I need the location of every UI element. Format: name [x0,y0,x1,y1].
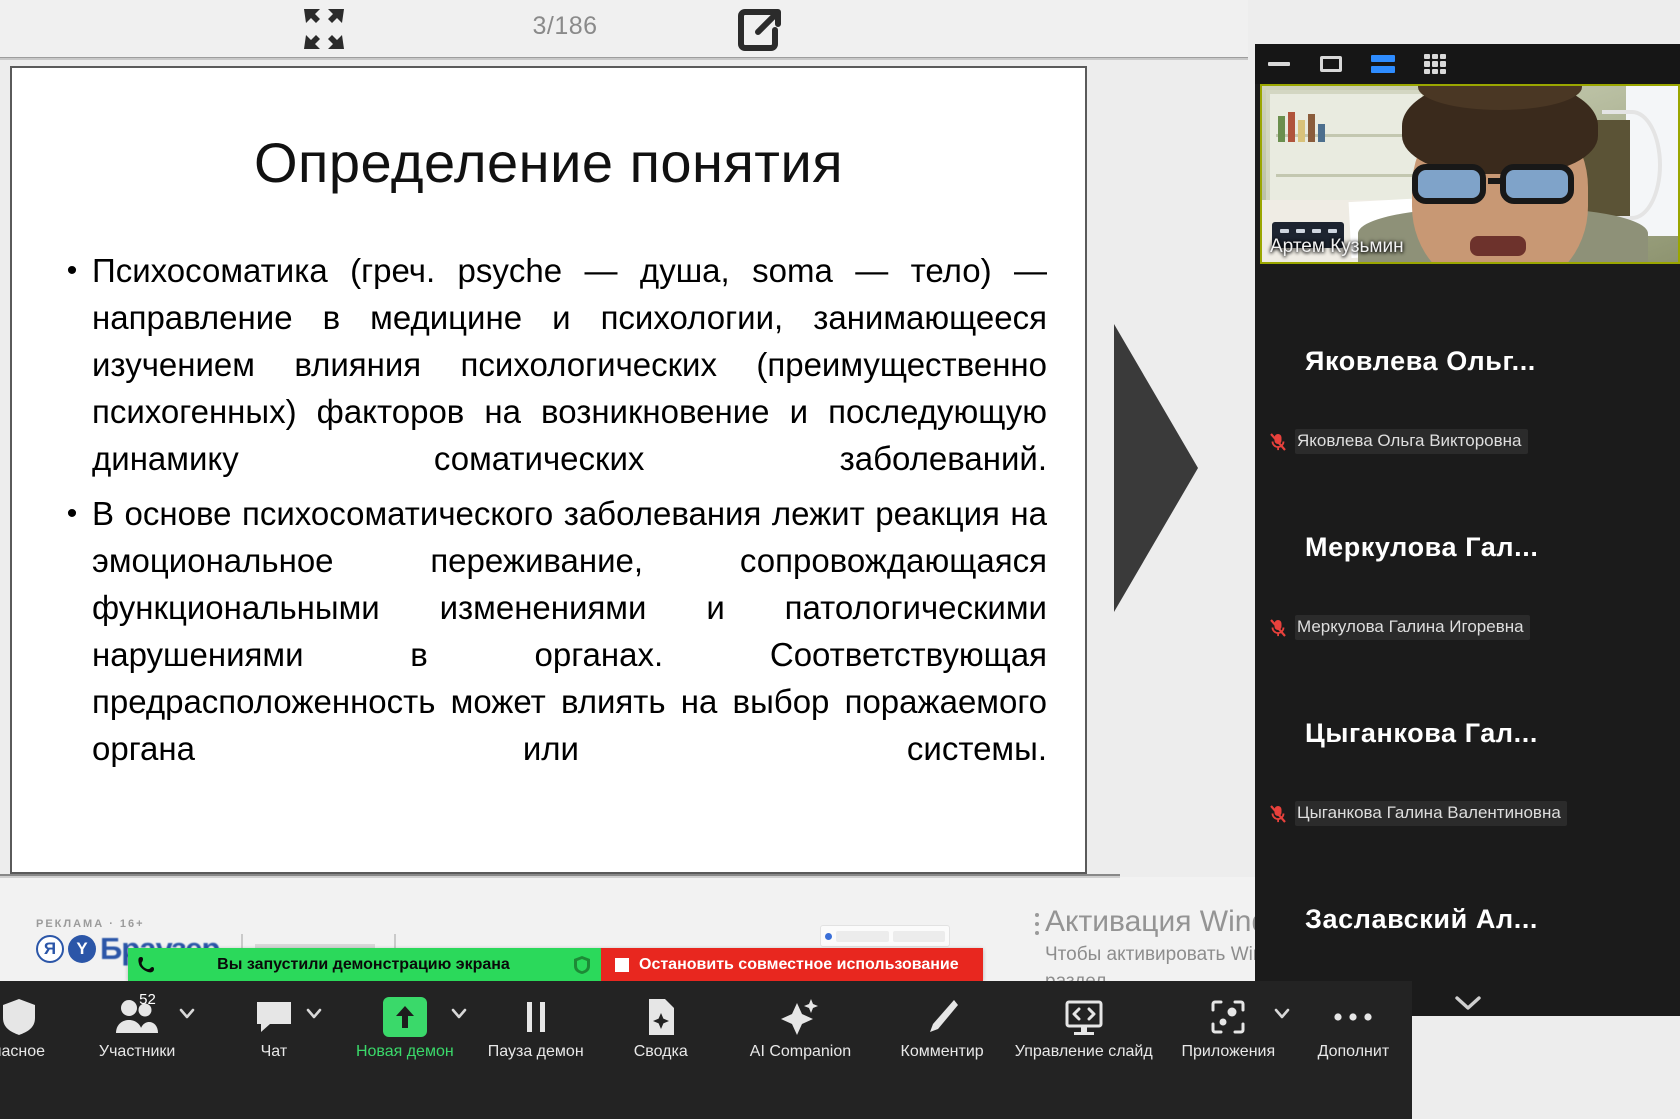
chevron-down-icon [1453,994,1483,1012]
apps-icon [1209,993,1247,1041]
list-item[interactable]: Цыганкова Гал... Цыганкова Галина Валент… [1255,640,1680,826]
participant-display-name: Цыганкова Гал... [1255,718,1680,749]
slide-canvas: Определение понятия • Психосоматика (гре… [10,66,1087,874]
summary-doc-icon [644,993,678,1041]
slide-title: Определение понятия [12,130,1085,195]
toolbar-item-apps[interactable]: Приложения [1162,993,1295,1061]
toolbar-label: Сводка [634,1043,688,1061]
stop-sharing-button[interactable]: Остановить совместное использование [601,948,983,981]
browser-tab[interactable] [836,931,889,942]
toolbar-item-new-share[interactable]: Новая демон [337,993,472,1061]
participant-name-strip: Меркулова Галина Игоревна [1255,615,1680,640]
bullet-text: Психосоматика (греч. psyche — душа, soma… [92,247,1047,482]
share-export-icon [736,6,782,52]
mini-browser-window[interactable] [820,925,950,947]
share-button[interactable] [730,2,788,56]
pencil-annotate-icon [924,993,960,1041]
participants-caret-button[interactable] [178,1007,194,1023]
slide-body: • Психосоматика (греч. psyche — душа, so… [52,247,1047,772]
page-indicator: 3/186 [500,12,630,41]
ad-label: РЕКЛАМА · 16+ [36,918,396,930]
restore-window-button[interactable] [1317,51,1345,77]
shield-security-icon [573,955,591,975]
chat-bubble-icon [254,993,294,1041]
chevron-down-icon [178,1007,196,1021]
chat-caret-button[interactable] [305,1007,321,1023]
toolbar-label: Комментир [901,1043,984,1061]
phone-icon [138,956,154,974]
slide-bullet: • В основе психосоматического заболевани… [52,490,1047,772]
toolbar-item-participants[interactable]: 52 Участники [64,993,211,1061]
bullet-text: В основе психосоматического заболевания … [92,490,1047,772]
minimize-button[interactable] [1265,51,1293,77]
slide-control-icon [1064,993,1104,1041]
share-screen-icon [383,993,427,1041]
chevron-down-icon [305,1007,323,1021]
screen-share-banner: Вы запустили демонстрацию экрана Останов… [128,948,983,981]
yandex-ya-icon: Я [36,935,64,963]
participant-count-badge: 52 [139,991,156,1008]
background-divider [0,874,1120,878]
zoom-participants-window: Артем Кузьмин Яковлева Ольг... Яковлева [1255,44,1680,1016]
toolbar-item-summary[interactable]: Сводка [599,993,722,1061]
toolbar-label: Приложения [1182,1043,1276,1061]
chevron-down-icon [450,1007,468,1021]
toolbar-item-pause-share[interactable]: Пауза демон [472,993,599,1061]
fullscreen-expand-icon [301,6,347,52]
toolbar-label: Новая демон [356,1043,454,1061]
participant-display-name: Заславский Ал... [1255,904,1680,935]
share-status-text: Вы запустили демонстрацию экрана [164,956,563,974]
toolbar-label: Чат [261,1043,288,1061]
bullet-marker: • [52,490,92,537]
shield-icon [0,993,38,1041]
participant-full-name: Цыганкова Галина Валентиновна [1295,801,1567,826]
list-item[interactable]: Яковлева Ольг... Яковлева Ольга Викторов… [1255,270,1680,454]
split-view-icon [1371,55,1395,73]
split-view-button[interactable] [1369,51,1397,77]
stop-sharing-label: Остановить совместное использование [639,956,959,974]
participant-full-name: Меркулова Галина Игоревна [1295,615,1530,640]
pause-icon [521,993,551,1041]
browser-tab[interactable] [893,931,946,942]
apps-caret-button[interactable] [1273,1007,1289,1023]
list-item[interactable]: Заславский Ал... [1255,826,1680,935]
grid-view-icon [1424,54,1446,74]
microphone-muted-icon [1269,618,1287,638]
participant-display-name: Меркулова Гал... [1255,532,1680,563]
fullscreen-button[interactable] [296,2,352,56]
active-speaker-name: Артем Кузьмин [1270,236,1404,258]
active-speaker-video-tile[interactable]: Артем Кузьмин [1260,84,1680,264]
large-black-pointer-arrow-icon [1110,318,1202,618]
participant-full-name: Яковлева Ольга Викторовна [1295,429,1528,454]
toolbar-label: Управление слайд [1015,1043,1153,1061]
toolbar-label: Участники [99,1043,175,1061]
participant-name-strip: Цыганкова Галина Валентиновна [1255,801,1680,826]
microphone-muted-icon [1269,432,1287,452]
participant-list[interactable]: Яковлева Ольг... Яковлева Ольга Викторов… [1255,270,1680,1016]
toolbar-item-chat[interactable]: Чат [210,993,337,1061]
toolbar-label: пасное [0,1043,45,1061]
restore-window-icon [1320,56,1342,72]
zoom-bottom-toolbar: пасное 52 Участни [0,981,1412,1119]
presentation-viewer-toolbar: 3/186 [0,0,1248,58]
minimize-icon [1268,62,1290,66]
toolbar-item-annotate[interactable]: Комментир [879,993,1006,1061]
toolbar-label: AI Companion [750,1043,851,1061]
stop-square-icon [615,958,629,972]
zoom-window-titlebar [1255,44,1680,84]
toolbar-item-slide-control[interactable]: Управление слайд [1006,993,1162,1061]
chevron-down-icon [1273,1007,1291,1021]
browser-logo-icon [825,933,832,940]
gallery-view-button[interactable] [1421,51,1449,77]
toolbar-divider [0,57,1248,60]
microphone-muted-icon [1269,804,1287,824]
toolbar-item-ai-companion[interactable]: AI Companion [722,993,878,1061]
participant-name-strip: Яковлева Ольга Викторовна [1255,429,1680,454]
toolbar-label: Пауза демон [488,1043,584,1061]
participant-display-name: Яковлева Ольг... [1255,346,1680,377]
toolbar-item-more[interactable]: Дополнит [1295,993,1412,1061]
share-caret-button[interactable] [450,1007,466,1023]
bullet-marker: • [52,247,92,294]
toolbar-items: пасное 52 Участни [0,981,1412,1119]
pointer-arrow [1110,318,1202,618]
slide-bullet: • Психосоматика (греч. psyche — душа, so… [52,247,1047,482]
screen-root: 3/186 Определение понятия • Психосоматик… [0,0,1680,1119]
toolbar-label: Дополнит [1318,1043,1390,1061]
share-status-section: Вы запустили демонстрацию экрана [128,948,601,981]
list-item[interactable]: Меркулова Гал... Меркулова Галина Игорев… [1255,454,1680,640]
more-ellipsis-icon [1331,993,1375,1041]
yandex-y-icon: Y [68,935,96,963]
toolbar-item-security[interactable]: пасное [0,993,64,1061]
ai-sparkle-icon [780,993,820,1041]
